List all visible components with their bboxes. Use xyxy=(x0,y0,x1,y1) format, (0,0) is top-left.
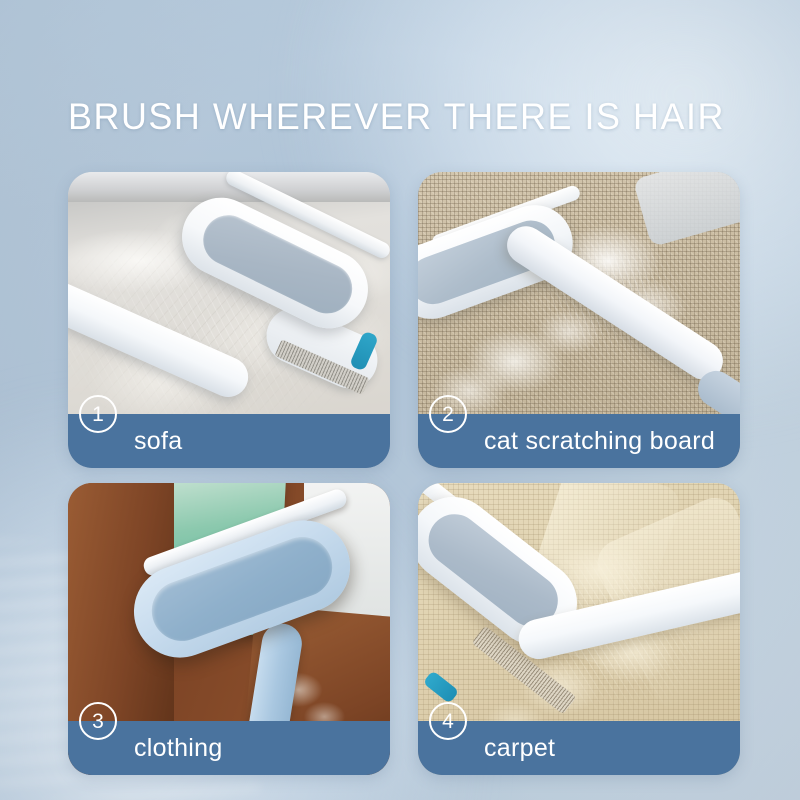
panel-sofa[interactable]: 1 sofa xyxy=(68,172,390,468)
panel-carpet[interactable]: 4 carpet xyxy=(418,483,740,775)
panel-clothing-label: clothing xyxy=(134,734,223,763)
panel-sofa-label: sofa xyxy=(134,427,182,456)
panel-clothing-label-bar: 3 clothing xyxy=(68,721,390,775)
panel-sofa-number-badge: 1 xyxy=(79,395,117,433)
panel-clothing-number-badge: 3 xyxy=(79,702,117,740)
page-title: BRUSH WHEREVER THERE IS HAIR xyxy=(68,96,725,138)
panel-cat-scratching-board-label: cat scratching board xyxy=(484,427,715,456)
panel-cat-scratching-board-number-badge: 2 xyxy=(429,395,467,433)
panel-carpet-label: carpet xyxy=(484,734,555,763)
panel-cat-scratching-board[interactable]: 2 cat scratching board xyxy=(418,172,740,468)
panel-carpet-label-bar: 4 carpet xyxy=(418,721,740,775)
panel-cat-scratching-board-label-bar: 2 cat scratching board xyxy=(418,414,740,468)
panel-sofa-label-bar: 1 sofa xyxy=(68,414,390,468)
panel-carpet-number-badge: 4 xyxy=(429,702,467,740)
panel-clothing[interactable]: 3 clothing xyxy=(68,483,390,775)
